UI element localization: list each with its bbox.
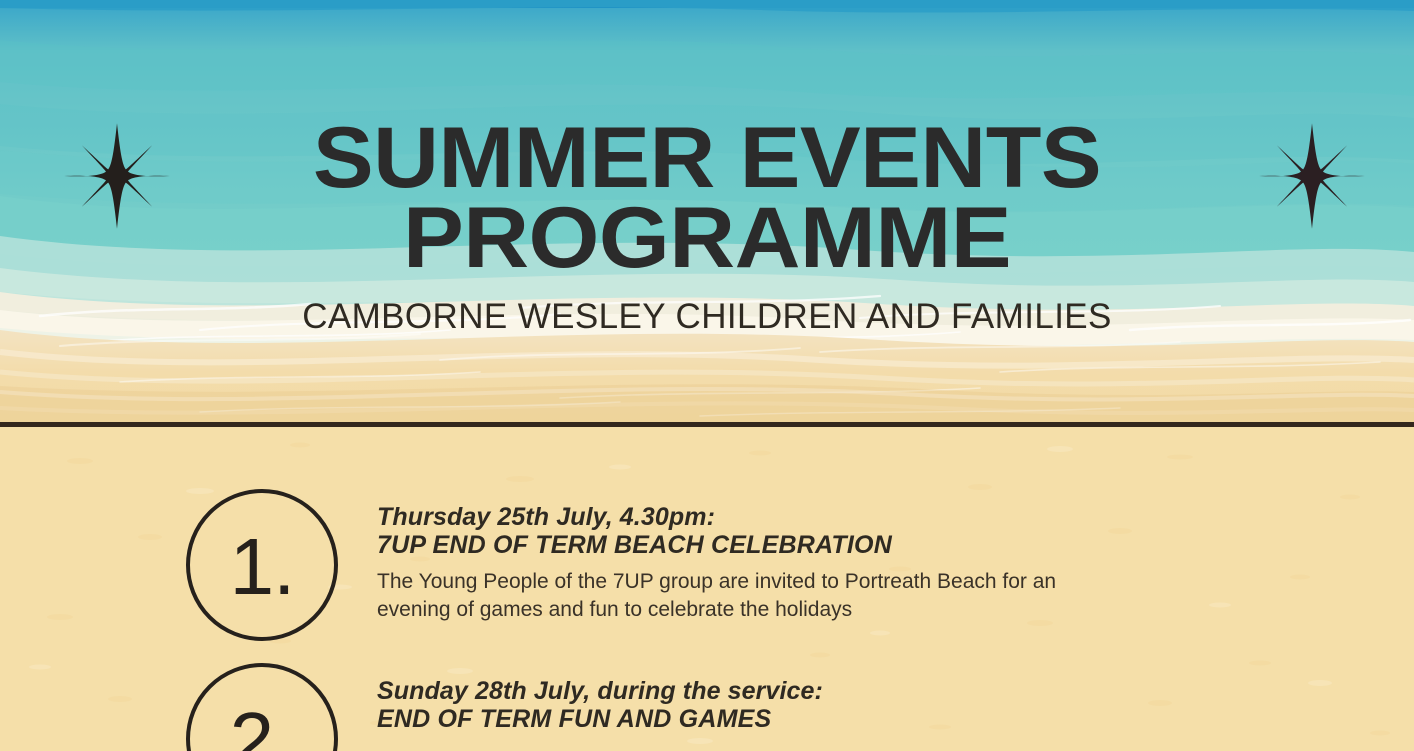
event-item-1[interactable]: 1. Thursday 25th July, 4.30pm: 7UP END O… <box>186 489 1056 641</box>
event-description-1: The Young People of the 7UP group are in… <box>377 568 1056 623</box>
event-item-2[interactable]: 2. Sunday 28th July, during the service:… <box>186 663 823 751</box>
event-date-1: Thursday 25th July, 4.30pm: <box>377 503 1056 531</box>
event-number-2: 2. <box>230 701 295 751</box>
event-date-2: Sunday 28th July, during the service: <box>377 677 823 705</box>
event-name-1: 7UP END OF TERM BEACH CELEBRATION <box>377 531 1056 559</box>
poster-root: SUMMER EVENTS PROGRAMME CAMBORNE WESLEY … <box>0 0 1414 751</box>
event-number-circle-2: 2. <box>186 663 338 751</box>
event-number-circle-1: 1. <box>186 489 338 641</box>
hero-beach-scene: SUMMER EVENTS PROGRAMME CAMBORNE WESLEY … <box>0 0 1414 424</box>
event-text-2: Sunday 28th July, during the service: EN… <box>377 663 823 742</box>
event-number-1: 1. <box>230 527 295 607</box>
beach-waves-illustration <box>0 0 1414 424</box>
events-section: 1. Thursday 25th July, 4.30pm: 7UP END O… <box>0 427 1414 751</box>
event-text-1: Thursday 25th July, 4.30pm: 7UP END OF T… <box>377 489 1056 623</box>
sparkle-star-icon-right <box>1257 121 1367 231</box>
sparkle-star-icon-left <box>62 121 172 231</box>
event-name-2: END OF TERM FUN AND GAMES <box>377 705 823 733</box>
